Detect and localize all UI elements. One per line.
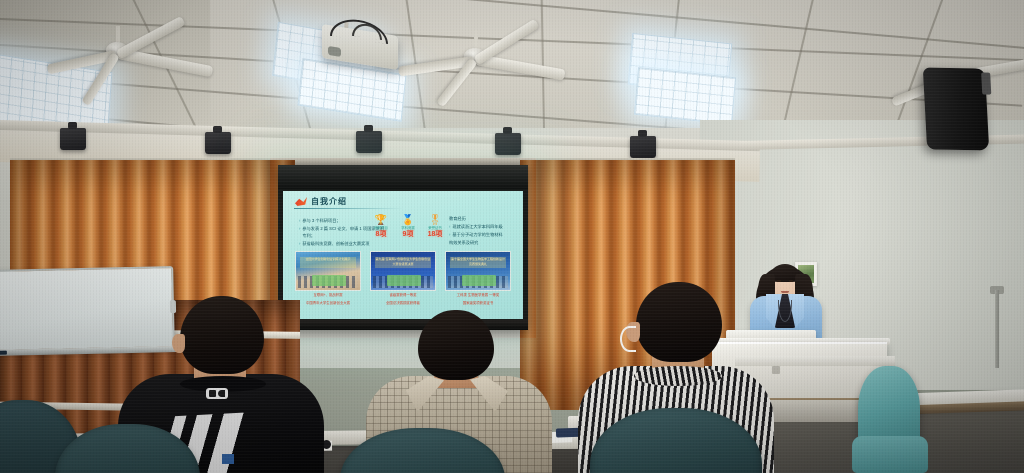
head <box>418 310 494 380</box>
bullet-text: 教育经历 <box>449 215 466 222</box>
fan-rod <box>474 30 478 48</box>
mlb-logo <box>206 388 228 399</box>
photo-banner-text: 第十届全国大学生生物医学工程创新设计竞赛颁奖典礼 <box>450 257 506 268</box>
bullet-text: 现就读浙江大学本科四年级 <box>452 223 502 230</box>
head <box>180 296 264 374</box>
slide-photo-item: 第九届"互联网+"创新创业大学生创新创业大赛省级赛决赛 省级赛获得一等奖 全国总… <box>370 251 436 306</box>
stat-value: 8项 <box>369 231 393 239</box>
track-spotlight <box>630 136 656 158</box>
bullet-dot-icon: › <box>299 225 300 239</box>
photo-banner-text: 第九届"互联网+"创新创业大学生创新创业大赛省级赛决赛 <box>375 257 431 268</box>
fan-blade <box>473 19 539 66</box>
bullet-item: › 获省级科技竞赛、创新创业大赛奖项 <box>299 240 387 247</box>
stat-item: 🎖 荣誉证书 18项 <box>423 215 447 239</box>
whiteboard-marker <box>0 351 7 355</box>
presenter-mouth <box>781 291 789 293</box>
flame-logo-icon <box>295 197 307 206</box>
bullet-text: 获省级科技竞赛、创新创业大赛奖项 <box>302 240 369 247</box>
bullet-item: 构效关系及研究 <box>449 239 519 246</box>
bullet-text: 基于分子动力学的生物材料 <box>452 231 502 238</box>
slide-title-underline <box>294 208 404 209</box>
bullet-text: 参与 3 个科研项目； <box>302 217 340 224</box>
fan-rod <box>116 26 120 42</box>
speaker-bracket <box>981 73 991 95</box>
photo-green-sign <box>312 275 346 286</box>
award-photo-1: 全国大学生创新创业训练计划展示 <box>295 251 361 291</box>
stat-value: 18项 <box>423 231 447 239</box>
bullet-item: 教育经历 <box>449 215 519 222</box>
bullet-dot-icon: › <box>449 223 450 230</box>
bullet-item: › 基于分子动力学的生物材料 <box>449 231 519 238</box>
projector-lens <box>328 46 341 57</box>
slide-title: 自我介绍 <box>311 196 347 207</box>
photo-caption: 国家级奖项获奖证书 <box>445 301 511 307</box>
classroom-photo: 自我介绍 › 参与 3 个科研项目； › 参与发表 2 篇 SCI 论文、申请 … <box>0 0 1024 473</box>
certificate-icon: 🎖 <box>423 215 447 226</box>
slide-header: 自我介绍 <box>295 196 347 207</box>
photo-caption: 工科类 生物医学竞赛 一等奖 <box>445 293 511 299</box>
screen-roller-case <box>278 165 528 189</box>
stat-item: 🏅 学科竞赛 9项 <box>396 215 420 239</box>
slide-photo-item: 第十届全国大学生生物医学工程创新设计竞赛颁奖典礼 工科类 生物医学竞赛 一等奖 … <box>445 251 511 306</box>
bullet-item: › 现就读浙江大学本科四年级 <box>449 223 519 230</box>
bullet-dot-icon: › <box>449 231 450 238</box>
stat-value: 9项 <box>396 231 420 239</box>
teal-office-chair-seat <box>852 436 928 473</box>
track-spotlight <box>205 132 231 154</box>
bullet-text: 构效关系及研究 <box>449 239 478 246</box>
bullet-dot-icon: › <box>299 240 300 247</box>
photo-green-sign <box>462 275 496 286</box>
slide-photo-row: 全国大学生创新创业训练计划展示 互联网+、挑战杯赛 中国青年大学生创新创业大赛 … <box>295 251 511 306</box>
head <box>636 282 722 362</box>
track-spotlight <box>60 128 86 150</box>
slide-right-bullets: 教育经历 › 现就读浙江大学本科四年级 › 基于分子动力学的生物材料 构效关系及… <box>449 215 519 247</box>
award-photo-3: 第十届全国大学生生物医学工程创新设计竞赛颁奖典礼 <box>445 251 511 291</box>
photo-caption: 省级赛获得一等奖 <box>370 293 436 299</box>
presenter-eye <box>789 280 793 282</box>
wall-pipe <box>995 290 999 368</box>
face-mask-ear-loop <box>620 326 636 352</box>
photo-banner-text: 全国大学生创新创业训练计划展示 <box>300 257 356 268</box>
bullet-dot-icon: › <box>299 217 300 224</box>
medal-icon: 🏅 <box>396 215 420 226</box>
shirt-collar <box>634 366 722 386</box>
track-spotlight <box>356 131 382 153</box>
ear <box>172 334 185 353</box>
photo-green-sign <box>387 275 421 286</box>
slide-stats-row: 🏆 科研项目 8项 🏅 学科竞赛 9项 🎖 荣誉证书 18项 <box>369 215 447 239</box>
wall-speaker-right <box>923 68 989 151</box>
photo-caption: 全国总决赛铜奖获得者 <box>370 301 436 307</box>
award-photo-2: 第九届"互联网+"创新创业大学生创新创业大赛省级赛决赛 <box>370 251 436 291</box>
shirt-graphic-accent <box>222 454 234 464</box>
presenter-eye <box>777 280 781 282</box>
light-panel-right-lower <box>634 67 736 125</box>
stat-item: 🏆 科研项目 8项 <box>369 215 393 239</box>
track-spotlight <box>495 133 521 155</box>
trophy-icon: 🏆 <box>369 215 393 226</box>
